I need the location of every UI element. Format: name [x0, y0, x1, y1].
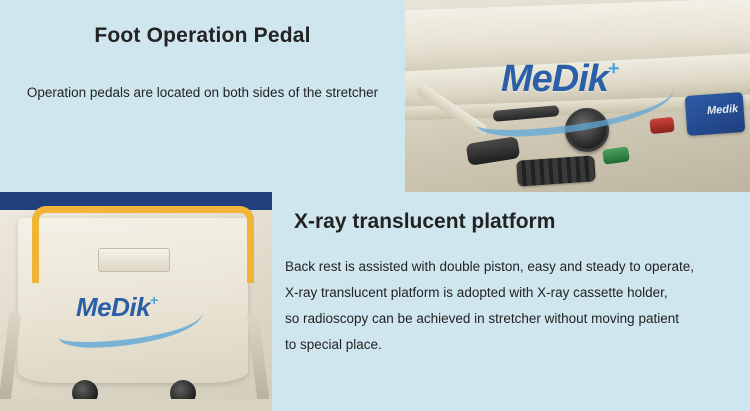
top-product-photo: MeDik+ Medik — [405, 0, 750, 192]
xray-cassette-holder-shape — [98, 248, 170, 272]
body-line: so radioscopy can be achieved in stretch… — [285, 306, 735, 332]
top-section-subtitle: Operation pedals are located on both sid… — [0, 85, 405, 100]
top-text-panel: Foot Operation Pedal Operation pedals ar… — [0, 0, 405, 192]
brand-cross-icon-bottom: + — [150, 292, 158, 308]
brand-logo-secondary: Medik — [706, 103, 738, 117]
body-line: X-ray translucent platform is adopted wi… — [285, 280, 735, 306]
bottom-text-panel: X-ray translucent platform Back rest is … — [272, 192, 750, 411]
body-line: Back rest is assisted with double piston… — [285, 254, 735, 280]
bottom-section-title: X-ray translucent platform — [294, 210, 555, 234]
brand-cross-icon: + — [608, 58, 619, 80]
bottom-section-body: Back rest is assisted with double piston… — [285, 254, 735, 358]
bottom-product-photo: MeDik+ — [0, 192, 272, 411]
body-line: to special place. — [285, 332, 735, 358]
brand-logo-bottom: MeDik+ — [76, 292, 158, 323]
photo-bottom-strip — [0, 399, 272, 411]
bottom-feature-section: MeDik+ X-ray translucent platform Back r… — [0, 192, 750, 411]
foot-pedal-right-shape — [516, 155, 596, 186]
brand-logo-top-text: MeDik — [501, 58, 608, 100]
top-section-title: Foot Operation Pedal — [0, 24, 405, 48]
red-control-knob-shape — [649, 117, 674, 134]
product-feature-banner: Foot Operation Pedal Operation pedals ar… — [0, 0, 750, 411]
brand-logo-top: MeDik+ — [501, 58, 619, 101]
top-feature-section: Foot Operation Pedal Operation pedals ar… — [0, 0, 750, 192]
brand-logo-bottom-text: MeDik — [76, 292, 150, 322]
